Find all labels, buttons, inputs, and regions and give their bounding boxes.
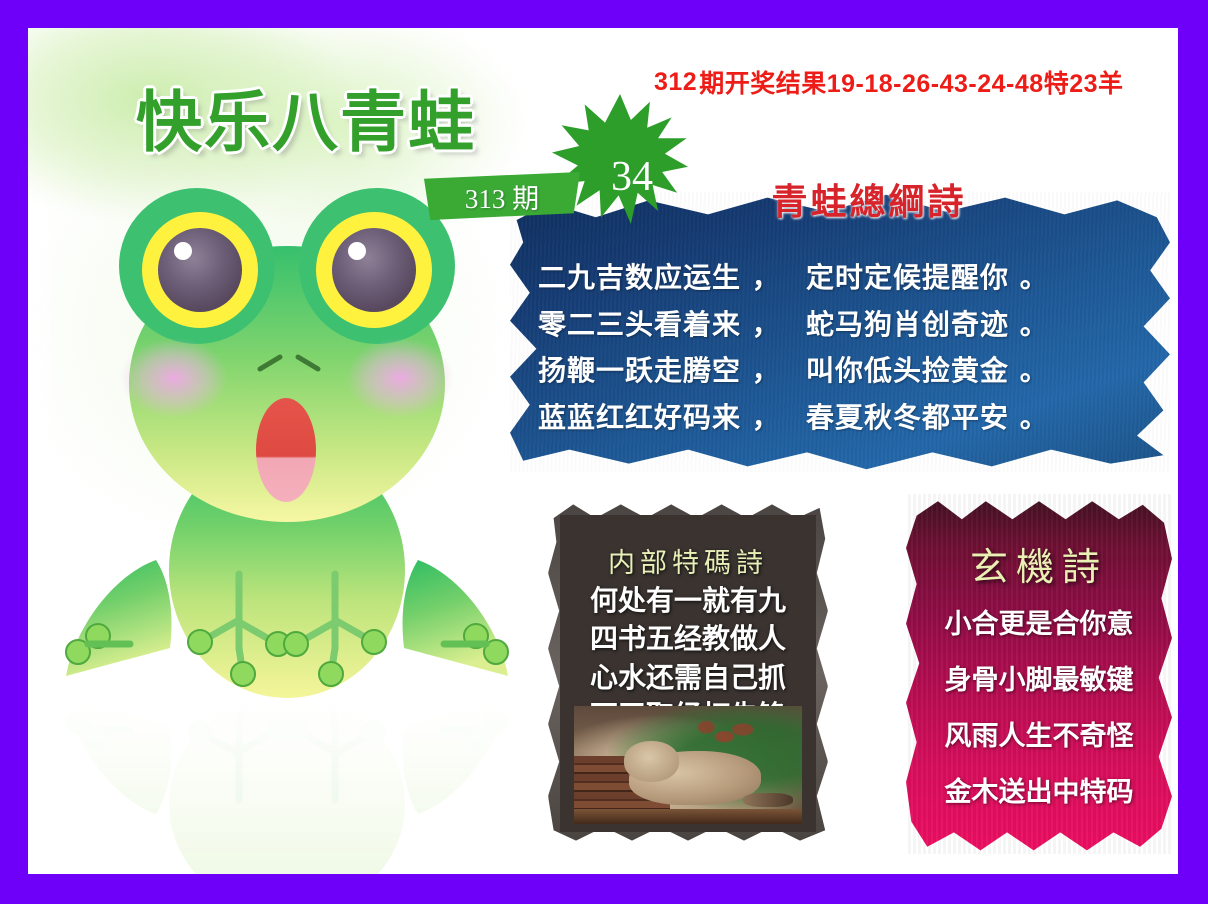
poem-row: 扬鞭一跃走腾空 ， 叫你低头捡黄金 。 — [538, 349, 1158, 389]
poem-line-left: 零二三头看着来 ， — [538, 303, 806, 343]
draw-result-line: 312 期开奖结果19-18-26-43-24-48特23羊 — [654, 64, 1174, 100]
poem-line-right: 定时定候提醒你 。 — [806, 256, 1106, 296]
poem-line: 身骨小脚最敏键 — [945, 658, 1134, 697]
page-title: 快乐八青蛙 — [136, 90, 606, 156]
poem-line-right: 叫你低头捡黄金 。 — [806, 349, 1106, 389]
main-poem-body: 二九吉数应运生 ， 定时定候提醒你 。 零二三头看着来 ， 蛇马狗肖创奇迹 。 … — [538, 256, 1158, 436]
poem-line-left: 蓝蓝红红好码来 ， — [538, 396, 806, 436]
poem-line-left: 扬鞭一跃走腾空 ， — [538, 349, 806, 389]
frog-mouth — [256, 398, 316, 502]
mystic-poem-heading: 玄機詩 — [906, 536, 1172, 591]
poem-line: 小合更是合你意 — [945, 602, 1134, 641]
poster-canvas: 312 期开奖结果19-18-26-43-24-48特23羊 快乐八青蛙 34 … — [28, 28, 1178, 874]
main-poem-heading: 青蛙總綱詩 — [694, 176, 1044, 222]
poem-row: 蓝蓝红红好码来 ， 春夏秋冬都平安 。 — [538, 396, 1158, 436]
frog-mascot — [52, 178, 522, 698]
cat-head — [624, 741, 679, 781]
poem-row: 零二三头看着来 ， 蛇马狗肖创奇迹 。 — [538, 303, 1158, 343]
frog-eye-left — [142, 212, 258, 328]
poem-row: 二九吉数应运生 ， 定时定候提醒你 。 — [538, 256, 1158, 296]
mystic-poem-lines: 小合更是合你意 身骨小脚最敏键 风雨人生不奇怪 金木送出中特码 — [906, 602, 1172, 809]
inner-code-poem-card: 内部特碼詩 何处有一就有九 四书五经教做人 心水还需自己抓 西天取经打先锋 — [548, 501, 828, 844]
frog-cheek-right — [346, 338, 454, 418]
mystic-poem-card: 玄機詩 小合更是合你意 身骨小脚最敏键 风雨人生不奇怪 金木送出中特码 — [906, 494, 1172, 854]
issue-ribbon-label: 313 期 — [424, 172, 580, 220]
dark-card-background: 内部特碼詩 何处有一就有九 四书五经教做人 心水还需自己抓 西天取经打先锋 — [560, 515, 816, 832]
draw-issue-number: 312 — [654, 68, 697, 97]
poem-line-right: 蛇马狗肖创奇迹 。 — [806, 303, 1106, 343]
frog-reflection — [52, 676, 522, 874]
poster-frame: 312 期开奖结果19-18-26-43-24-48特23羊 快乐八青蛙 34 … — [0, 0, 1208, 904]
inner-code-poem-heading: 内部特碼詩 — [560, 541, 816, 580]
frog-cheek-left — [120, 338, 228, 418]
cat-tail — [743, 793, 793, 807]
wooden-shelf — [574, 809, 802, 824]
poem-line: 心水还需自己抓 — [590, 660, 786, 696]
poem-line: 风雨人生不奇怪 — [945, 714, 1134, 753]
poem-line: 金木送出中特码 — [945, 770, 1134, 809]
poem-line: 何处有一就有九 — [590, 583, 786, 619]
frog-eye-right — [316, 212, 432, 328]
poem-line-left: 二九吉数应运生 ， — [538, 256, 806, 296]
poem-line-right: 春夏秋冬都平安 。 — [806, 396, 1106, 436]
sleeping-cat-photo — [574, 706, 802, 824]
draw-result-text: 期开奖结果19-18-26-43-24-48特23羊 — [699, 64, 1123, 100]
poem-line: 四书五经教做人 — [590, 621, 786, 657]
